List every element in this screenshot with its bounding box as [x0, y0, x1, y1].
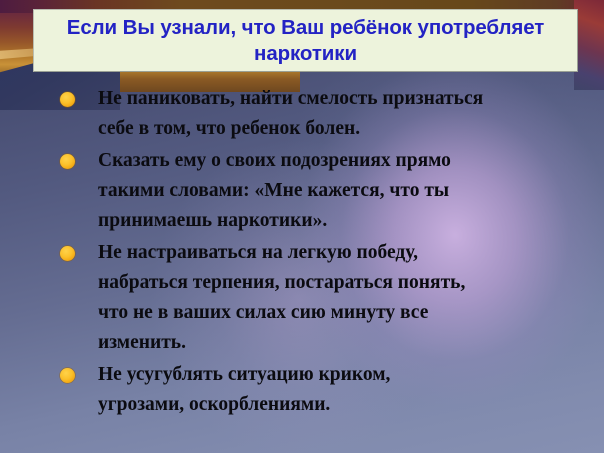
- list-item: Сказать ему о своих подозрениях прямо та…: [52, 146, 572, 236]
- bullet-dot-icon: [60, 92, 75, 107]
- list-item-text: Сказать ему о своих подозрениях прямо та…: [98, 146, 572, 236]
- bullet-list: Не паниковать, найти смелость признаться…: [52, 84, 572, 422]
- top-right-color-band: [574, 0, 604, 90]
- list-item: Не паниковать, найти смелость признаться…: [52, 84, 572, 144]
- list-item: Не усугублять ситуацию криком, угрозами,…: [52, 360, 572, 420]
- slide-title: Если Вы узнали, что Ваш ребёнок употребл…: [44, 15, 567, 67]
- list-item-text: Не паниковать, найти смелость признаться…: [98, 84, 572, 144]
- list-item-text: Не настраиваться на легкую победу, набра…: [98, 238, 572, 358]
- bullet-dot-icon: [60, 154, 75, 169]
- list-item-text: Не усугублять ситуацию криком, угрозами,…: [98, 360, 572, 420]
- bullet-dot-icon: [60, 246, 75, 261]
- bullet-dot-icon: [60, 368, 75, 383]
- title-box: Если Вы узнали, что Ваш ребёнок употребл…: [33, 9, 578, 72]
- list-item: Не настраиваться на легкую победу, набра…: [52, 238, 572, 358]
- presentation-slide: Если Вы узнали, что Ваш ребёнок употребл…: [0, 0, 604, 453]
